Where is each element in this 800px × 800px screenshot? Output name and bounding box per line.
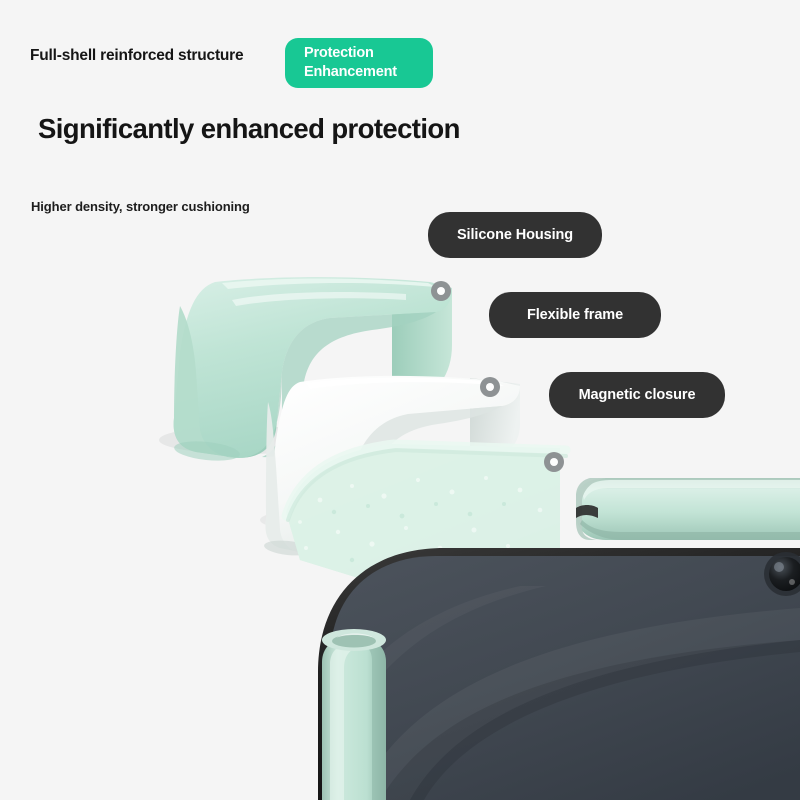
connector-dot-flexible-frame: [480, 377, 500, 397]
badge-line-2: Enhancement: [304, 63, 433, 82]
connector-dot-magnetic-closure: [544, 452, 564, 472]
callout-flexible-frame: Flexible frame: [489, 292, 661, 338]
connector-dot-silicone-housing: [431, 281, 451, 301]
silicone-rail-top: [576, 478, 800, 540]
phone-device: [318, 548, 800, 800]
callout-silicone-housing: Silicone Housing: [428, 212, 602, 258]
protection-enhancement-badge: Protection Enhancement: [285, 38, 433, 88]
silicone-rail-left: [322, 629, 386, 800]
subtitle-text: Higher density, stronger cushioning: [31, 199, 250, 214]
badge-line-1: Protection: [304, 44, 433, 63]
page-title: Significantly enhanced protection: [38, 113, 460, 145]
callout-magnetic-closure: Magnetic closure: [549, 372, 725, 418]
eyebrow-text: Full-shell reinforced structure: [30, 47, 243, 65]
product-feature-graphic: Full-shell reinforced structure Protecti…: [0, 0, 800, 800]
